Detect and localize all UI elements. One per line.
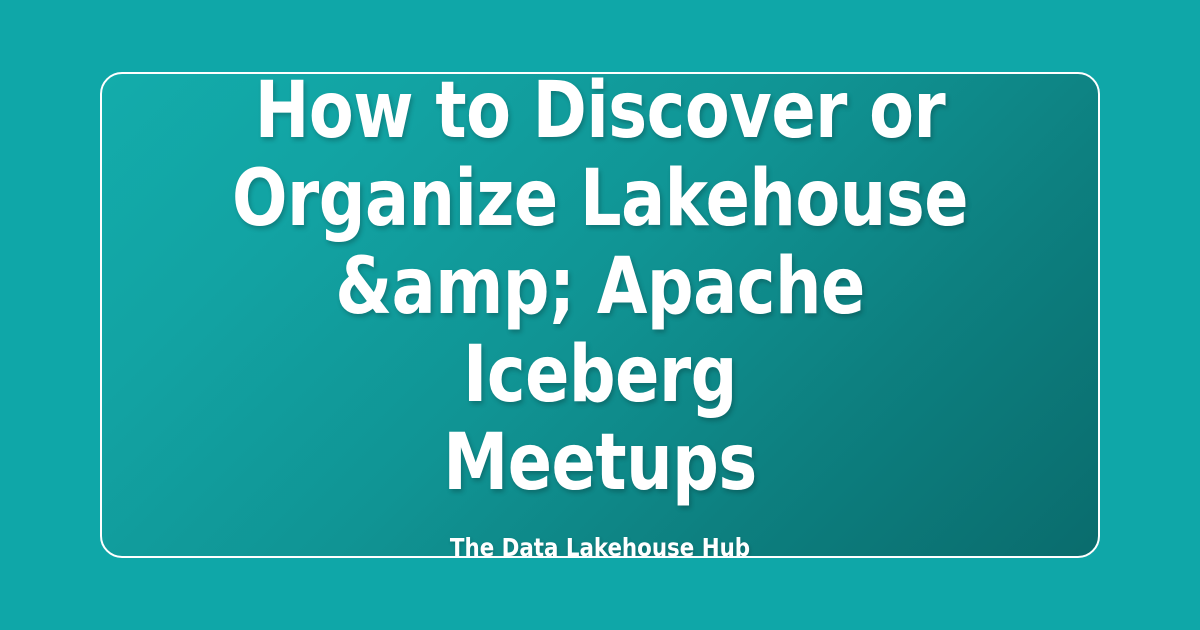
page-title: How to Discover or Organize Lakehouse &a… <box>191 72 1009 507</box>
card-content-stack: How to Discover or Organize Lakehouse &a… <box>160 72 1040 558</box>
og-image-canvas: How to Discover or Organize Lakehouse &a… <box>0 0 1200 630</box>
site-name-subtitle: The Data Lakehouse Hub <box>450 533 750 558</box>
content-card: How to Discover or Organize Lakehouse &a… <box>100 72 1100 558</box>
